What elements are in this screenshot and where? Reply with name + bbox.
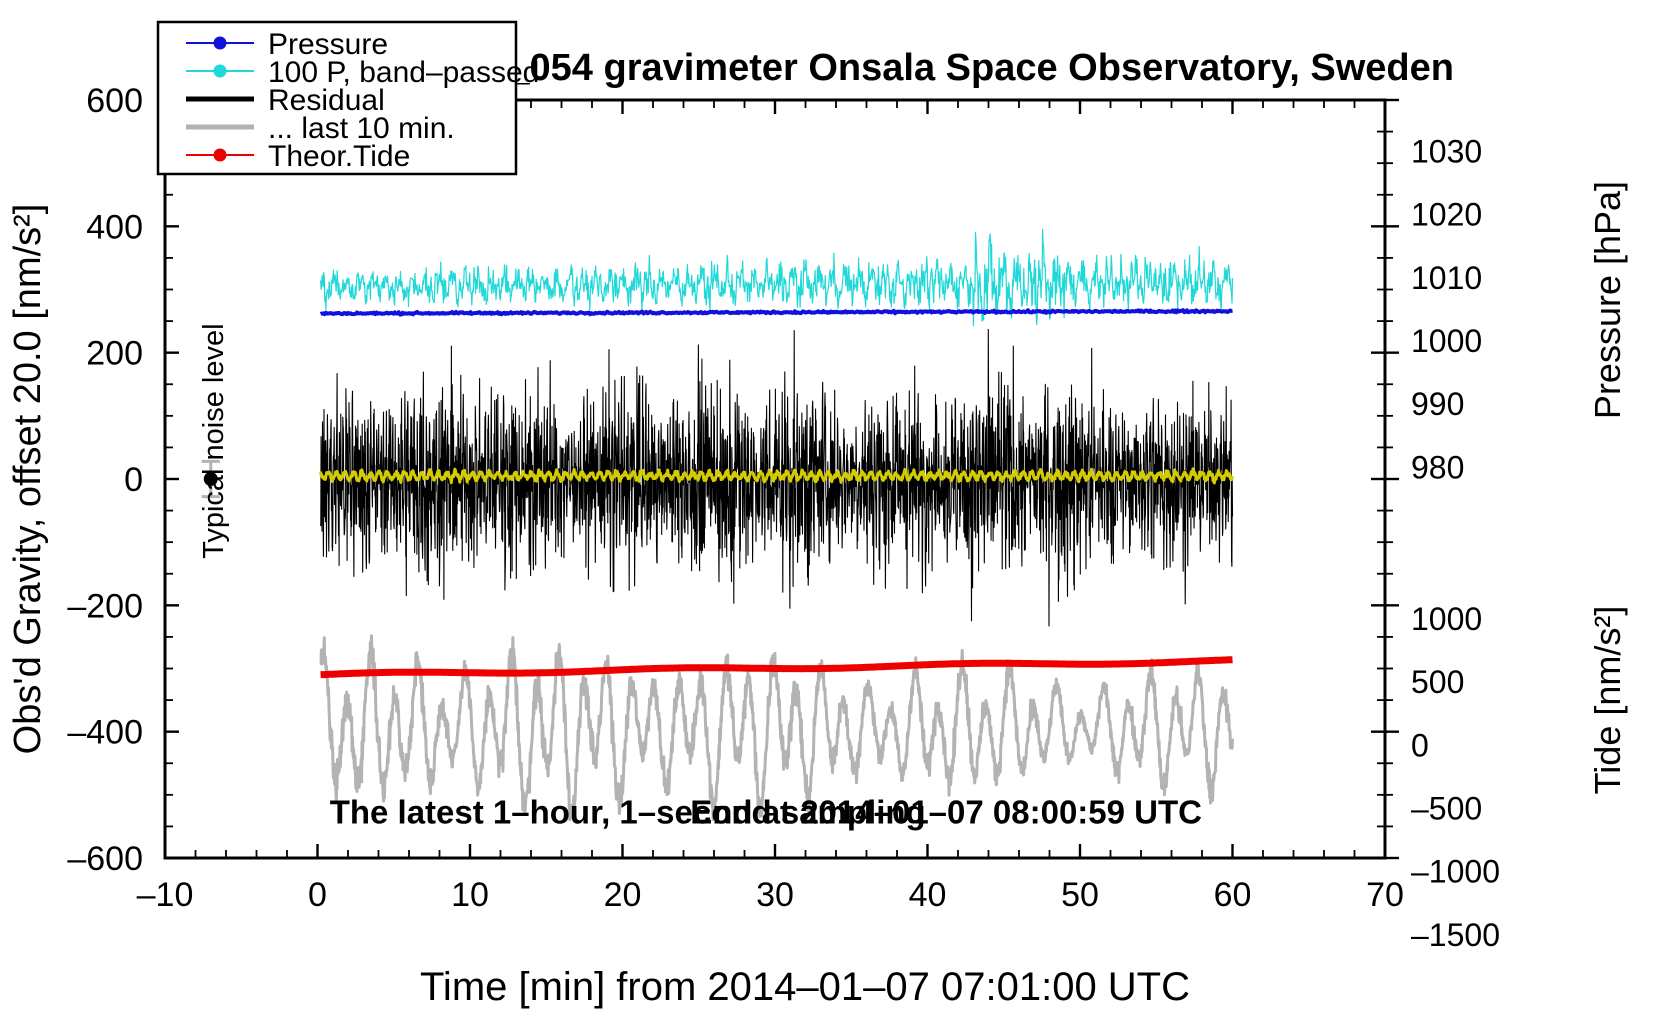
- y-tick-label-left: 200: [86, 335, 143, 373]
- y-tick-label-left: 400: [86, 208, 143, 246]
- pressure-tick-label: 1010: [1411, 260, 1482, 296]
- tide-tick-label: –500: [1411, 790, 1482, 826]
- noise-level-label: Typical noise level: [198, 323, 230, 558]
- chart-title: SCG_054 gravimeter Onsala Space Observat…: [426, 47, 1454, 89]
- x-tick-label: 50: [1061, 876, 1099, 914]
- x-tick-label: –10: [137, 876, 194, 914]
- pressure-tick-label: 1020: [1411, 197, 1482, 233]
- x-tick-label: 10: [451, 876, 489, 914]
- x-tick-labels: –10010203040506070: [137, 876, 1404, 914]
- x-tick-label: 20: [604, 876, 642, 914]
- y-axis-title-pressure: Pressure [hPa]: [1587, 181, 1628, 419]
- y-tick-label-left: –400: [67, 714, 143, 752]
- chart-root: –100102030405060706004002000–200–400–600…: [0, 0, 1660, 1020]
- pressure-tick-label: 980: [1411, 449, 1464, 485]
- tide-axis-labels: 10005000–500–1000–1500: [1411, 601, 1500, 953]
- x-tick-label: 30: [756, 876, 794, 914]
- y-tick-label-left: 0: [124, 461, 143, 499]
- legend: Pressure100 P, band–passedResidual... la…: [158, 22, 539, 174]
- x-axis-title: Time [min] from 2014–01–07 07:01:00 UTC: [420, 965, 1190, 1009]
- legend-dot-0: [214, 37, 227, 50]
- tide-tick-label: –1500: [1411, 917, 1500, 953]
- y-tick-label-left: 600: [86, 82, 143, 120]
- x-tick-label: 40: [909, 876, 947, 914]
- pressure-tick-label: 1000: [1411, 323, 1482, 359]
- x-tick-label: 60: [1214, 876, 1252, 914]
- y-axis-title-tide: Tide [nm/s²]: [1587, 606, 1628, 795]
- pressure-axis-labels: 1030102010101000990980: [1411, 134, 1482, 486]
- y-axis-title-left: Obs'd Gravity, offset 20.0 [nm/s²]: [7, 204, 49, 755]
- pressure-tick-label: 990: [1411, 386, 1464, 422]
- y-tick-labels-left: 6004002000–200–400–600: [67, 82, 143, 878]
- x-tick-label: 0: [308, 876, 327, 914]
- tide-tick-label: –1000: [1411, 854, 1500, 890]
- y-tick-label-left: –200: [67, 587, 143, 625]
- pressure-tick-label: 1030: [1411, 134, 1482, 170]
- legend-label-4: Theor.Tide: [268, 140, 410, 173]
- legend-dot-4: [214, 149, 227, 162]
- legend-dot-1: [214, 65, 227, 78]
- y-tick-label-left: –600: [67, 840, 143, 878]
- x-tick-label: 70: [1366, 876, 1404, 914]
- tide-tick-label: 0: [1411, 727, 1429, 763]
- tide-tick-label: 1000: [1411, 601, 1482, 637]
- tide-tick-label: 500: [1411, 664, 1464, 700]
- bottom-right-note: End at 2014–01–07 08:00:59 UTC: [690, 793, 1202, 830]
- gravimeter-chart: –100102030405060706004002000–200–400–600…: [0, 0, 1660, 1020]
